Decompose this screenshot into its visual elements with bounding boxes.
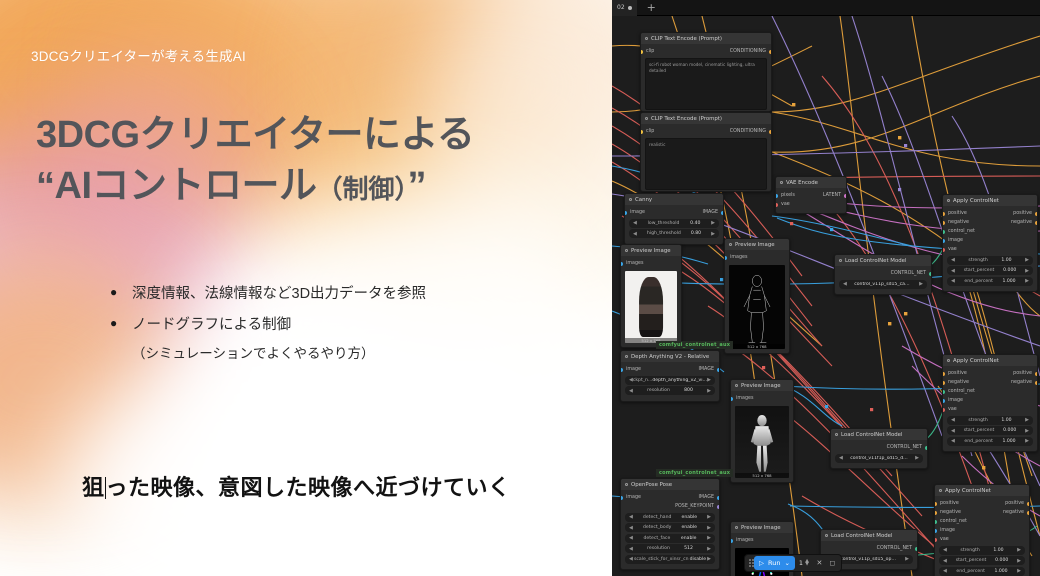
port-label-out: negative (1011, 220, 1032, 225)
widget-value: 800 (684, 388, 693, 393)
node-header[interactable]: Preview Image (731, 522, 793, 533)
new-tab-plus-icon[interactable]: + (643, 2, 660, 13)
node-body: CONTROL_NET ◀ control_v11f1p_sd15_depth_… (831, 440, 927, 468)
port-label-out: positive (1013, 211, 1032, 216)
image-output-pin[interactable] (717, 368, 720, 372)
collapse-icon[interactable] (780, 181, 783, 184)
node-title: Preview Image (741, 525, 781, 531)
port-label-in: negative (940, 510, 961, 515)
widget-label: end_percent (964, 439, 993, 444)
decrement-icon[interactable]: ◀ (943, 558, 947, 564)
node-title: CLIP Text Encode (Prompt) (651, 36, 722, 42)
collapse-icon[interactable] (947, 359, 950, 362)
increment-icon[interactable]: ▶ (711, 220, 715, 226)
clear-queue-close-icon[interactable]: ✕ (813, 556, 826, 570)
decrement-icon[interactable]: ◀ (943, 568, 947, 574)
node-title: Apply ControlNet (953, 358, 999, 364)
collapse-icon[interactable] (625, 483, 628, 486)
widget-end-percent[interactable]: ◀ end_percent 1.000 ▶ (947, 277, 1033, 286)
node-header[interactable]: Preview Image (725, 239, 789, 250)
node-openpose-pose[interactable]: OpenPose Pose image IMAGE POSE_KEYPOINT (620, 478, 720, 570)
vae-input-pin[interactable] (934, 538, 937, 542)
bullet-sub-note: （シミュレーションでよくやるやり方） (132, 342, 580, 362)
port-row[interactable]: control_net (943, 387, 1037, 396)
images-input-pin[interactable] (730, 397, 733, 401)
next-icon[interactable]: ▶ (707, 525, 711, 531)
negative-input-pin[interactable] (934, 511, 937, 515)
port-label-in: negative (948, 220, 969, 225)
slide-title-paren: （制御） (317, 174, 408, 204)
port-row[interactable]: vae (943, 245, 1037, 254)
run-button[interactable]: ▷ Run ⌄ (754, 556, 795, 570)
node-header[interactable]: Apply ControlNet (943, 195, 1037, 206)
image-input-pin[interactable] (620, 368, 623, 372)
port-row[interactable]: images (731, 536, 793, 545)
widget-value: enable (682, 515, 698, 520)
workflow-tab-label: 02 (617, 4, 625, 11)
port-row[interactable]: vae (935, 535, 1029, 544)
pose-keypoint-output-pin[interactable] (717, 505, 720, 509)
port-label-in: control_net (940, 519, 967, 524)
positive-output-pin[interactable] (1035, 212, 1038, 216)
widget-value: 0.000 (1003, 268, 1016, 273)
node-vae-encode[interactable]: VAE Encode pixels LATENT vae (775, 176, 847, 214)
decrement-icon[interactable]: ◀ (951, 268, 955, 274)
bullet-marker: ● (110, 314, 132, 333)
stepper-arrows-icon[interactable]: ▲▼ (805, 560, 809, 566)
comfyui-window: 02 + (612, 0, 1040, 576)
image-input-pin[interactable] (620, 496, 623, 500)
node-header[interactable]: Load ControlNet Model (831, 429, 927, 440)
node-header[interactable]: OpenPose Pose (621, 479, 719, 490)
port-label-in: images (730, 255, 747, 260)
widget-checkpoint-name[interactable]: ◀ ckpt_n... depth_anything_v2_vitl.pth ▶ (625, 376, 715, 385)
decrement-icon[interactable]: ◀ (951, 257, 955, 263)
widget-label: strength (968, 258, 987, 263)
widget-value: enable (681, 536, 697, 541)
port-row[interactable]: clip CONDITIONING (641, 127, 771, 136)
widget-label: strength (968, 418, 987, 423)
group-label-controlnet-aux-1: comfyui_controlnet_aux (656, 341, 733, 349)
drag-handle-icon[interactable] (747, 557, 754, 569)
positive-output-pin[interactable] (1035, 372, 1038, 376)
positive-output-pin[interactable] (1027, 502, 1030, 506)
node-body: CONTROL_NET ◀ control_v11p_sd15_canny_fp… (835, 266, 931, 294)
widget-end-percent[interactable]: ◀ end_percent 1.000 ▶ (939, 567, 1025, 576)
node-body: images (731, 391, 793, 482)
bullet-list: ● 深度情報、法線情報など3D出力データを参照 ● ノードグラフによる制御 （シ… (110, 283, 580, 362)
control-net-output-pin[interactable] (925, 446, 928, 450)
vae-input-pin[interactable] (942, 248, 945, 252)
node-title: Apply ControlNet (945, 488, 991, 494)
next-icon[interactable]: ▶ (915, 455, 919, 461)
port-row[interactable]: image (943, 396, 1037, 405)
widget-controlnet-name[interactable]: ◀ control_v11f1p_sd15_depth_fp1 ... ▶ (835, 454, 923, 463)
stop-square-icon[interactable]: ◻ (826, 556, 839, 570)
clip-input-pin[interactable] (640, 130, 643, 134)
increment-icon[interactable]: ▶ (711, 231, 715, 237)
port-label-in: vae (940, 537, 949, 542)
prev-icon[interactable]: ◀ (839, 455, 843, 461)
node-canny[interactable]: Canny image IMAGE ◀ low_threshold 0.40 ▶ (624, 193, 724, 245)
port-row[interactable]: POSE_KEYPOINT (621, 502, 719, 511)
image-input-pin[interactable] (942, 239, 945, 243)
image-input-pin[interactable] (942, 399, 945, 403)
widget-label: high_threshold (647, 231, 681, 236)
model-silhouette (639, 277, 663, 337)
bullet-text: 深度情報、法線情報など3D出力データを参照 (132, 283, 426, 305)
port-row[interactable]: image (935, 526, 1029, 535)
slide-title-line2: “AIコントロール（制御）” (36, 161, 596, 212)
widget-value: disable (690, 557, 706, 562)
vae-input-pin[interactable] (942, 408, 945, 412)
node-title: OpenPose Pose (631, 482, 672, 488)
port-label-in: control_net (948, 389, 975, 394)
port-row[interactable]: positive positive (943, 369, 1037, 378)
port-row[interactable]: CONTROL_NET (831, 443, 927, 452)
node-preview-image-canny[interactable]: Preview Image images (724, 238, 790, 354)
node-title: CLIP Text Encode (Prompt) (651, 116, 722, 122)
increment-icon[interactable]: ▶ (1017, 547, 1021, 553)
node-title: Preview Image (735, 242, 775, 248)
widget-value: 0.000 (1003, 428, 1016, 433)
widget-strength[interactable]: ◀ strength 1.00 ▶ (947, 256, 1033, 265)
port-label-in: image (630, 210, 645, 215)
negative-input-pin[interactable] (942, 381, 945, 385)
next-icon[interactable]: ▶ (919, 281, 923, 287)
increment-icon[interactable]: ▶ (1025, 278, 1029, 284)
increment-icon[interactable]: ▶ (1025, 438, 1029, 444)
group-label-controlnet-aux-2: comfyui_controlnet_aux (656, 469, 733, 477)
node-load-controlnet-model-canny[interactable]: Load ControlNet Model CONTROL_NET ◀ cont… (834, 254, 932, 295)
widget-detect-hand[interactable]: ◀ detect_hand enable ▶ (625, 513, 715, 522)
port-row[interactable]: image IMAGE (625, 208, 723, 217)
node-clip-text-encode-negative[interactable]: CLIP Text Encode (Prompt) clip CONDITION… (640, 112, 772, 192)
widget-label: low_threshold (648, 221, 680, 226)
widget-scale-stick[interactable]: ◀ scale_stick_for_xinsr_cn disable ▶ (625, 555, 715, 564)
presentation-slide: 3DCGクリエイターが考える生成AI 3DCGクリエイターによる “AIコントロ… (0, 0, 612, 576)
image-output-pin[interactable] (721, 211, 724, 215)
closing-after-caret: った映像、意図した映像へ近づけていく (106, 475, 511, 500)
collapse-icon[interactable] (835, 433, 838, 436)
port-row[interactable]: pixels LATENT (776, 191, 846, 200)
port-label-in: positive (948, 211, 967, 216)
widget-start-percent[interactable]: ◀ start_percent 0.000 ▶ (939, 556, 1025, 565)
port-row[interactable]: negative negative (935, 508, 1029, 517)
node-body: pixels LATENT vae (776, 188, 846, 213)
collapse-icon[interactable] (735, 384, 738, 387)
port-label-out: CONTROL_NET (877, 546, 912, 551)
increment-icon[interactable]: ▶ (1025, 268, 1029, 274)
widget-value: 1.000 (1002, 439, 1015, 444)
collapse-icon[interactable] (645, 37, 648, 40)
widget-value: 1.000 (994, 569, 1007, 574)
node-body: images 512 x 768 (621, 256, 681, 347)
node-apply-controlnet-1[interactable]: Apply ControlNet positive positive negat… (942, 194, 1038, 292)
unsaved-changes-dot-icon (628, 6, 632, 10)
next-icon[interactable]: ▶ (707, 377, 711, 383)
increment-icon[interactable]: ▶ (707, 546, 711, 552)
widget-end-percent[interactable]: ◀ end_percent 1.000 ▶ (947, 437, 1033, 446)
next-icon[interactable]: ▶ (707, 514, 711, 520)
clip-input-pin[interactable] (640, 50, 643, 54)
decrement-icon[interactable]: ◀ (951, 428, 955, 434)
prev-icon[interactable]: ◀ (629, 556, 633, 562)
port-label-out: CONTROL_NET (887, 445, 922, 450)
image-output-pin[interactable] (717, 496, 720, 500)
widget-label: start_percent (964, 428, 995, 433)
node-body: positive positive negative negative cont… (943, 206, 1037, 291)
widget-value: 1.00 (1001, 258, 1011, 263)
prev-icon[interactable]: ◀ (629, 535, 633, 541)
port-row[interactable]: negative negative (943, 218, 1037, 227)
node-clip-text-encode-positive[interactable]: CLIP Text Encode (Prompt) clip CONDITION… (640, 32, 772, 112)
node-body: image IMAGE POSE_KEYPOINT ◀ detect_hand … (621, 490, 719, 569)
port-row[interactable]: positive positive (943, 209, 1037, 218)
prev-icon[interactable]: ◀ (629, 514, 633, 520)
conditioning-output-pin[interactable] (769, 130, 772, 134)
port-label-out: negative (1003, 510, 1024, 515)
node-header[interactable]: Load ControlNet Model (821, 530, 917, 541)
decrement-icon[interactable]: ◀ (629, 388, 633, 394)
prompt-textarea[interactable]: sci-fi robot woman model, cinematic ligh… (645, 58, 767, 110)
port-label-in: clip (646, 49, 654, 54)
decrement-icon[interactable]: ◀ (633, 220, 637, 226)
decrement-icon[interactable]: ◀ (951, 438, 955, 444)
node-preview-image-source-photo[interactable]: Preview Image images 512 x 768 (620, 244, 682, 348)
port-row[interactable]: clip CONDITIONING (641, 47, 771, 56)
run-button-label: Run (768, 559, 780, 567)
increment-icon[interactable]: ▶ (1025, 428, 1029, 434)
node-body: clip CONDITIONING realistic (641, 124, 771, 192)
widget-value: 0.000 (995, 558, 1008, 563)
decrement-icon[interactable]: ◀ (951, 278, 955, 284)
port-row[interactable]: image IMAGE (621, 493, 719, 502)
node-apply-controlnet-3[interactable]: Apply ControlNet positive positive negat… (934, 484, 1030, 576)
closing-before-caret: 狙 (82, 475, 105, 500)
chevron-down-icon[interactable]: ⌄ (784, 559, 789, 567)
increment-icon[interactable]: ▶ (1017, 568, 1021, 574)
batch-count-stepper[interactable]: 1 ▲▼ (795, 556, 813, 570)
decrement-icon[interactable]: ◀ (943, 547, 947, 553)
node-header[interactable]: Apply ControlNet (935, 485, 1029, 496)
port-label-latent: LATENT (823, 193, 841, 198)
port-label-vae: vae (781, 202, 790, 207)
prev-icon[interactable]: ◀ (843, 281, 847, 287)
widget-value: 1.00 (1001, 418, 1011, 423)
latent-output-pin[interactable] (844, 194, 847, 198)
increment-icon[interactable]: ▶ (707, 388, 711, 394)
image-input-pin[interactable] (624, 211, 627, 215)
port-label-out: CONDITIONING (730, 49, 766, 54)
next-icon[interactable]: ▶ (707, 556, 711, 562)
control-net-input-pin[interactable] (934, 520, 937, 524)
widget-label: scale_stick_for_xinsr_cn (634, 557, 689, 562)
positive-input-pin[interactable] (934, 502, 937, 506)
decrement-icon[interactable]: ◀ (951, 417, 955, 423)
collapse-icon[interactable] (629, 198, 632, 201)
port-label-pixels: pixels (781, 193, 795, 198)
port-row[interactable]: image (943, 236, 1037, 245)
widget-controlnet-name[interactable]: ◀ control_v11p_sd15_canny_fp16 ... ▶ (839, 280, 927, 289)
widget-strength[interactable]: ◀ strength 1.00 ▶ (939, 546, 1025, 555)
widget-start-percent[interactable]: ◀ start_percent 0.000 ▶ (947, 266, 1033, 275)
widget-low-threshold[interactable]: ◀ low_threshold 0.40 ▶ (629, 219, 719, 228)
decrement-icon[interactable]: ◀ (633, 231, 637, 237)
control-net-output-pin[interactable] (929, 272, 932, 276)
images-input-pin[interactable] (620, 262, 623, 266)
port-row[interactable]: images (725, 253, 789, 262)
collapse-icon[interactable] (625, 249, 628, 252)
collapse-icon[interactable] (735, 526, 738, 529)
port-label-in: vae (948, 407, 957, 412)
widget-value: 1.000 (1002, 279, 1015, 284)
port-row[interactable]: control_net (935, 517, 1029, 526)
pixels-input-pin[interactable] (775, 194, 778, 198)
port-row[interactable]: control_net (943, 227, 1037, 236)
next-icon[interactable]: ▶ (707, 535, 711, 541)
widget-resolution[interactable]: ◀ resolution 512 ▶ (625, 544, 715, 553)
widget-label: ckpt_n... (633, 378, 653, 383)
port-label-in: images (626, 261, 643, 266)
collapse-icon[interactable] (625, 355, 628, 358)
port-label-out: IMAGE (699, 367, 715, 372)
run-toolbar[interactable]: ▷ Run ⌄ 1 ▲▼ ✕ ◻ (744, 554, 842, 572)
node-header[interactable]: Load ControlNet Model (835, 255, 931, 266)
node-title: Preview Image (631, 248, 671, 254)
vae-input-pin[interactable] (775, 203, 778, 207)
node-title: Load ControlNet Model (845, 258, 907, 264)
node-title: Canny (635, 197, 652, 203)
list-item: ● ノードグラフによる制御 (110, 314, 580, 336)
node-header[interactable]: CLIP Text Encode (Prompt) (641, 33, 771, 44)
port-label-in: image (948, 398, 963, 403)
images-input-pin[interactable] (724, 256, 727, 260)
widget-value: depth_anything_v2_vitl.pth (652, 378, 707, 383)
widget-detect-face[interactable]: ◀ detect_face enable ▶ (625, 534, 715, 543)
increment-icon[interactable]: ▶ (1025, 257, 1029, 263)
conditioning-output-pin[interactable] (769, 50, 772, 54)
node-header[interactable]: Preview Image (731, 380, 793, 391)
image-input-pin[interactable] (934, 529, 937, 533)
positive-input-pin[interactable] (942, 372, 945, 376)
control-net-input-pin[interactable] (942, 390, 945, 394)
image-thumbnail-canny-edges[interactable]: 512 x 768 (729, 265, 785, 349)
port-row[interactable]: positive positive (935, 499, 1029, 508)
negative-input-pin[interactable] (942, 221, 945, 225)
node-graph-canvas[interactable]: CLIP Text Encode (Prompt) clip CONDITION… (612, 16, 1040, 576)
port-row[interactable]: CONTROL_NET (821, 544, 917, 553)
widget-label: detect_hand (643, 515, 672, 520)
slide-title-line1: 3DCGクリエイターによる (36, 114, 474, 156)
node-load-controlnet-model-depth[interactable]: Load ControlNet Model CONTROL_NET ◀ cont… (830, 428, 928, 469)
port-label-in: control_net (948, 229, 975, 234)
port-label-in: clip (646, 129, 654, 134)
node-body: positive positive negative negative cont… (935, 496, 1029, 576)
widget-label: start_percent (956, 558, 987, 563)
port-row[interactable]: image IMAGE (621, 365, 719, 374)
collapse-icon[interactable] (825, 534, 828, 537)
node-header[interactable]: Canny (625, 194, 723, 205)
node-preview-image-depth[interactable]: Preview Image images (730, 379, 794, 483)
control-net-output-pin[interactable] (915, 547, 918, 551)
list-item: ● 深度情報、法線情報など3D出力データを参照 (110, 283, 580, 305)
negative-output-pin[interactable] (1035, 221, 1038, 225)
port-label-out: positive (1005, 501, 1024, 506)
node-header[interactable]: Depth Anything V2 - Relative (621, 351, 719, 362)
node-header[interactable]: Preview Image (621, 245, 681, 256)
port-label-in: images (736, 538, 753, 543)
port-label-out: CONDITIONING (730, 129, 766, 134)
collapse-icon[interactable] (947, 199, 950, 202)
node-apply-controlnet-2[interactable]: Apply ControlNet positive positive negat… (942, 354, 1038, 452)
depth-silhouette (735, 406, 789, 478)
widget-start-percent[interactable]: ◀ start_percent 0.000 ▶ (947, 426, 1033, 435)
widget-detect-body[interactable]: ◀ detect_body enable ▶ (625, 523, 715, 532)
collapse-icon[interactable] (939, 489, 942, 492)
collapse-icon[interactable] (839, 259, 842, 262)
port-label-out-pose: POSE_KEYPOINT (675, 504, 714, 509)
port-row[interactable]: vae (776, 200, 846, 209)
port-row[interactable]: vae (943, 405, 1037, 414)
node-body: positive positive negative negative cont… (943, 366, 1037, 451)
port-row[interactable]: images (731, 394, 793, 403)
images-input-pin[interactable] (730, 539, 733, 543)
port-label-in: image (948, 238, 963, 243)
node-body: clip CONDITIONING sci-fi robot woman mod… (641, 44, 771, 112)
port-label-out-image: IMAGE (699, 495, 715, 500)
port-row[interactable]: images (621, 259, 681, 268)
node-body: image IMAGE ◀ low_threshold 0.40 ▶ ◀ hig… (625, 205, 723, 244)
increment-icon[interactable]: ▶ (1025, 417, 1029, 423)
port-label-in: image (626, 495, 641, 500)
node-depth-anything-v2[interactable]: Depth Anything V2 - Relative image IMAGE… (620, 350, 720, 402)
collapse-icon[interactable] (645, 117, 648, 120)
widget-value: enable (681, 525, 697, 530)
comfyui-tabbar: 02 + (612, 0, 1040, 16)
node-header[interactable]: Apply ControlNet (943, 355, 1037, 366)
widget-high-threshold[interactable]: ◀ high_threshold 0.80 ▶ (629, 229, 719, 238)
prev-icon[interactable]: ◀ (629, 525, 633, 531)
negative-output-pin[interactable] (1035, 381, 1038, 385)
image-thumbnail-photo[interactable]: 512 x 768 (625, 271, 677, 343)
increment-icon[interactable]: ▶ (1017, 558, 1021, 564)
widget-label: resolution (647, 388, 670, 393)
collapse-icon[interactable] (729, 243, 732, 246)
slide-eyebrow-text: 3DCGクリエイターが考える生成AI (31, 45, 246, 65)
control-net-input-pin[interactable] (942, 230, 945, 234)
widget-value: 0.80 (691, 231, 701, 236)
positive-input-pin[interactable] (942, 212, 945, 216)
widget-value: 512 (684, 546, 693, 551)
port-row[interactable]: negative negative (943, 378, 1037, 387)
widget-resolution[interactable]: ◀ resolution 800 ▶ (625, 386, 715, 395)
next-icon[interactable]: ▶ (905, 556, 909, 562)
image-thumbnail-depth-map[interactable]: 512 x 768 (735, 406, 789, 478)
port-label-out: IMAGE (703, 210, 719, 215)
widget-strength[interactable]: ◀ strength 1.00 ▶ (947, 416, 1033, 425)
decrement-icon[interactable]: ◀ (629, 546, 633, 552)
workflow-tab[interactable]: 02 (612, 0, 637, 16)
port-row[interactable]: CONTROL_NET (835, 269, 931, 278)
port-label-in: positive (940, 501, 959, 506)
node-header[interactable]: CLIP Text Encode (Prompt) (641, 113, 771, 124)
negative-output-pin[interactable] (1027, 511, 1030, 515)
thumbnail-caption: 512 x 768 (735, 473, 789, 478)
widget-label: detect_body (643, 525, 671, 530)
node-header[interactable]: VAE Encode (776, 177, 846, 188)
prompt-textarea[interactable]: realistic (645, 138, 767, 190)
